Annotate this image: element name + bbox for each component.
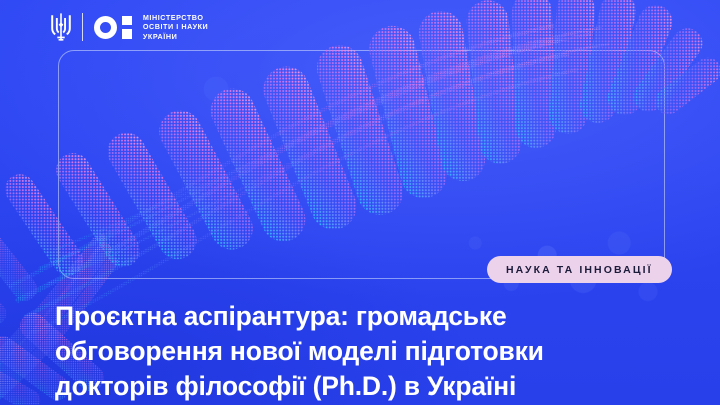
- ukraine-trident-emblem: [50, 12, 72, 42]
- banner-slide: МІНІСТЕРСТВО ОСВІТИ І НАУКИ УКРАЇНИ НАУК…: [0, 0, 720, 405]
- logo-squares-icon: [122, 16, 132, 39]
- ministry-line-1: МІНІСТЕРСТВО: [143, 13, 204, 22]
- page-title: Проєктна аспірантура: громадське обговор…: [55, 299, 675, 404]
- headline-line-1: Проєктна аспірантура: громадське: [55, 299, 675, 334]
- ministry-line-3: УКРАЇНИ: [143, 32, 177, 41]
- headline-line-2: обговорення нової моделі підготовки: [55, 334, 675, 369]
- category-badge[interactable]: НАУКА ТА ІННОВАЦІЇ: [487, 256, 672, 283]
- headline-line-3: докторів філософії (Ph.D.) в Україні: [55, 369, 675, 404]
- ministry-line-2: ОСВІТИ І НАУКИ: [143, 22, 208, 31]
- header-divider: [82, 13, 83, 41]
- mon-logo-mark: [94, 16, 132, 39]
- ministry-name: МІНІСТЕРСТВО ОСВІТИ І НАУКИ УКРАЇНИ: [143, 13, 208, 42]
- ministry-header: МІНІСТЕРСТВО ОСВІТИ І НАУКИ УКРАЇНИ: [50, 8, 208, 46]
- category-badge-label: НАУКА ТА ІННОВАЦІЇ: [506, 264, 653, 276]
- logo-ring-icon: [94, 16, 117, 39]
